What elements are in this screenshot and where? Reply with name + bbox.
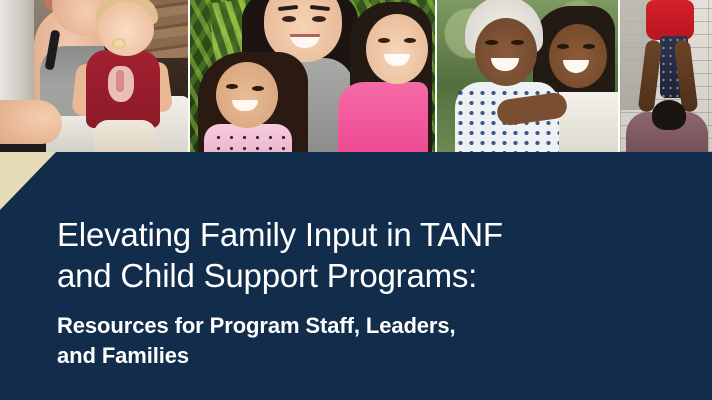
banner-photo-grandmother-and-granddaughter xyxy=(437,0,618,152)
grandmother-eye-left xyxy=(485,40,498,45)
banner-photo-mother-and-two-girls xyxy=(190,0,435,152)
younger-girl-head xyxy=(216,62,278,128)
banner-photo-father-lifting-child xyxy=(620,0,712,152)
granddaughter-eye-left xyxy=(557,44,569,49)
foreground-hand xyxy=(0,100,62,144)
grandmother-eye-right xyxy=(511,40,524,45)
younger-girl-eye-right xyxy=(252,86,264,91)
baby-diaper xyxy=(94,120,156,152)
older-girl-eye-right xyxy=(404,38,416,43)
onesie-graphic-detail xyxy=(116,70,124,92)
older-girl-pink-tank-top xyxy=(338,82,428,152)
page-subtitle: Resources for Program Staff, Leaders, an… xyxy=(57,311,657,371)
page-title: Elevating Family Input in TANF and Child… xyxy=(57,214,657,296)
younger-girl-top-pattern xyxy=(212,132,288,152)
title-block: Elevating Family Input in TANF and Child… xyxy=(57,214,657,371)
granddaughter-head xyxy=(549,24,607,88)
baby-pacifier xyxy=(112,38,126,49)
mother-eye-left xyxy=(282,16,296,22)
grandmother-head xyxy=(475,18,537,86)
child-red-shirt xyxy=(646,0,694,40)
father-head xyxy=(652,100,686,130)
banner-photo-mother-and-baby xyxy=(0,0,188,152)
photo-banner-strip xyxy=(0,0,712,152)
younger-girl-eye-left xyxy=(226,84,238,89)
older-girl-head xyxy=(366,14,428,84)
baby-head xyxy=(98,2,154,56)
mother-eye-right xyxy=(312,16,326,22)
granddaughter-eye-right xyxy=(583,44,595,49)
beige-accent-triangle xyxy=(0,152,56,210)
report-cover: Elevating Family Input in TANF and Child… xyxy=(0,0,712,400)
older-girl-eye-left xyxy=(378,38,390,43)
